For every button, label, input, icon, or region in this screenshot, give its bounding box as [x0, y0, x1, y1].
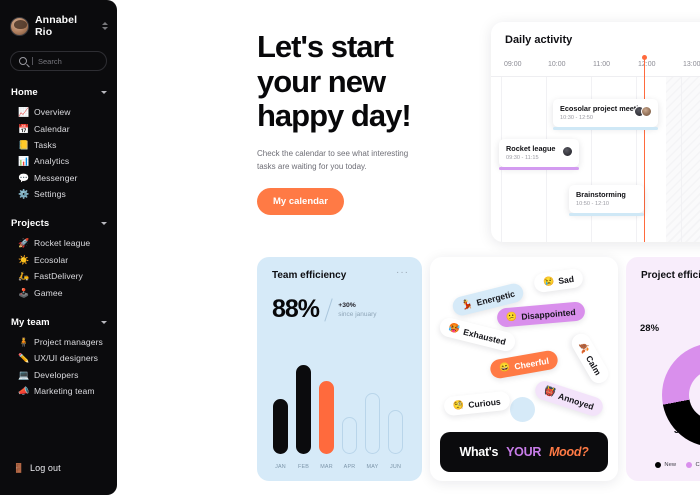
mood-label: Curious [468, 396, 501, 409]
sidebar-item-project-managers[interactable]: 🧍 Project managers [0, 334, 117, 350]
search-caret [32, 57, 33, 65]
curious-emoji-icon: 🧐 [453, 399, 465, 411]
sidebar-item-settings[interactable]: ⚙️ Settings [0, 186, 117, 202]
megaphone-icon: 📣 [18, 386, 28, 396]
cheerful-emoji-icon: 😄 [498, 361, 511, 374]
sidebar-group-projects-header[interactable]: Projects [0, 218, 117, 229]
hero-title-line-2: your new [257, 64, 385, 99]
project-efficiency-title: Project efficiency [641, 270, 700, 281]
banner-word-3: Mood? [549, 445, 588, 459]
my-calendar-button[interactable]: My calendar [257, 188, 344, 215]
bar-chart-x-labels: JAN FEB MAR APR MAY JUN [273, 464, 406, 470]
team-efficiency-value: 88% [272, 295, 319, 324]
mood-pill-disappointed[interactable]: 😕 Disappointed [496, 301, 585, 328]
sidebar-item-label: Analytics [34, 156, 69, 166]
logout-label: Log out [30, 463, 61, 473]
energetic-emoji-icon: 💃 [460, 298, 474, 311]
sidebar-item-label: Gamee [34, 288, 63, 298]
sidebar-item-label: Messenger [34, 173, 77, 183]
sidebar-item-label: Settings [34, 189, 66, 199]
team-efficiency-delta: +30% [338, 302, 376, 309]
event-accent-bar [569, 213, 644, 216]
project-efficiency-card: Project efficiency ··· 28% 42% 30% New [626, 257, 700, 481]
sidebar-item-label: Overview [34, 107, 71, 117]
page-title: Let's start your new happy day! [257, 30, 472, 134]
sidebar-item-label: Calendar [34, 124, 70, 134]
sidebar-item-label: Marketing team [34, 386, 95, 396]
sidebar-item-label: Tasks [34, 140, 56, 150]
legend-label: New [664, 462, 676, 468]
user-name: Annabel Rio [35, 14, 96, 38]
mood-pill-annoyed[interactable]: 👹 Annoyed [533, 379, 605, 419]
legend-item-new[interactable]: New [655, 462, 676, 468]
chat-icon: 💬 [18, 173, 28, 183]
sidebar-item-developers[interactable]: 💻 Developers [0, 367, 117, 383]
sidebar-item-rocket-league[interactable]: 🚀 Rocket league [0, 235, 117, 251]
laptop-icon: 💻 [18, 370, 28, 380]
legend-swatch [655, 462, 661, 468]
axis-tick: 12:00 [638, 61, 656, 68]
axis-tick: 09:00 [504, 61, 522, 68]
sidebar-group-my-team-header[interactable]: My team [0, 317, 117, 328]
bar-may [365, 393, 380, 454]
sidebar-item-label: Project managers [34, 337, 103, 347]
donut-chart [662, 343, 700, 447]
event-card-ecosolar[interactable]: Ecosolar project meeting 10:30 - 12:50 [553, 99, 658, 127]
team-efficiency-card: Team efficiency ··· 88% +30% since janua… [257, 257, 422, 481]
sidebar-group-home-header[interactable]: Home [0, 87, 117, 98]
sidebar-item-marketing-team[interactable]: 📣 Marketing team [0, 383, 117, 399]
x-label: JAN [273, 464, 288, 470]
hero-title-line-1: Let's start [257, 29, 393, 64]
mood-label: Exhausted [462, 326, 507, 346]
legend-label: Completed [696, 462, 700, 468]
divider [324, 298, 333, 321]
bar-jan [273, 399, 288, 454]
mood-pill-calm[interactable]: 🍂 Calm [568, 330, 612, 386]
event-title: Brainstorming [576, 190, 637, 199]
sidebar-item-ecosolar[interactable]: ☀️ Ecosolar [0, 252, 117, 268]
donut-ring [662, 343, 700, 447]
sidebar-group-projects-title: Projects [11, 218, 49, 229]
sidebar-item-label: Ecosolar [34, 255, 68, 265]
annoyed-emoji-icon: 👹 [543, 385, 557, 399]
person-icon: 🧍 [18, 337, 28, 347]
sidebar-item-tasks[interactable]: 📒 Tasks [0, 137, 117, 153]
sidebar-item-overview[interactable]: 📈 Overview [0, 104, 117, 120]
mood-label: Annoyed [557, 390, 595, 411]
team-efficiency-title: Team efficiency [272, 270, 346, 281]
donut-legend: New Completed In progress [626, 462, 700, 468]
sidebar: Annabel Rio Search Home 📈 Overview 📅 Ca [0, 0, 117, 495]
bar-jun [388, 410, 403, 454]
sidebar-item-messenger[interactable]: 💬 Messenger [0, 170, 117, 186]
joystick-icon: 🕹️ [18, 288, 28, 298]
sidebar-group-home-title: Home [11, 87, 38, 98]
event-card-rocket-league[interactable]: Rocket league 09:30 - 11:15 [499, 139, 579, 167]
sidebar-item-gamee[interactable]: 🕹️ Gamee [0, 284, 117, 300]
donut-label-completed: 28% [640, 323, 659, 334]
event-accent-bar [499, 167, 579, 170]
chevron-down-icon[interactable] [101, 222, 107, 225]
bar-mar [319, 381, 334, 454]
x-label: MAR [319, 464, 334, 470]
hero-title-line-3: happy day! [257, 98, 411, 133]
axis-tick: 11:00 [593, 61, 610, 68]
daily-activity-header: Daily activity Calendar view [491, 22, 700, 57]
notebook-icon: 📒 [18, 140, 28, 150]
daily-activity-card: Daily activity Calendar view 09:00 10:00… [491, 22, 700, 242]
scooter-icon: 🛵 [18, 271, 28, 281]
sidebar-item-label: Rocket league [34, 238, 90, 248]
hero-section: Let's start your new happy day! Check th… [257, 30, 472, 215]
chart-icon: 📈 [18, 107, 28, 117]
sad-emoji-icon: 😢 [542, 276, 555, 288]
timeline-axis: 09:00 10:00 11:00 12:00 13:00 14:00 15:0 [491, 57, 700, 77]
logout-icon: 🚪 [13, 463, 23, 473]
banner-word-2: YOUR [506, 445, 541, 459]
event-attendees [634, 106, 652, 117]
sidebar-group-my-team-title: My team [11, 317, 50, 328]
bar-chart-icon: 📊 [18, 156, 28, 166]
sidebar-group-projects: Projects 🚀 Rocket league ☀️ Ecosolar 🛵 F… [0, 218, 117, 301]
mood-label: Disappointed [521, 306, 576, 321]
sidebar-group-my-team: My team 🧍 Project managers ✏️ UX/UI desi… [0, 317, 117, 400]
hero-subtitle: Check the calendar to see what interesti… [257, 148, 427, 174]
card-menu-icon[interactable]: ··· [396, 270, 409, 276]
avatar [10, 17, 29, 36]
x-label: JUN [388, 464, 403, 470]
sidebar-item-label: FastDelivery [34, 271, 83, 281]
bar-apr [342, 417, 357, 454]
timeline-grid[interactable]: Ecosolar project meeting 10:30 - 12:50 R… [491, 77, 700, 242]
event-attendees [562, 146, 573, 157]
sidebar-item-label: Developers [34, 370, 78, 380]
daily-activity-title: Daily activity [505, 34, 572, 46]
legend-item-completed[interactable]: Completed [686, 462, 700, 468]
mood-label: Energetic [475, 288, 515, 307]
mood-label: Cheerful [513, 355, 549, 371]
chevron-down-icon[interactable] [101, 91, 107, 94]
calendar-icon: 📅 [18, 124, 28, 134]
user-switch-icon[interactable] [102, 22, 108, 30]
logout-button[interactable]: 🚪 Log out [0, 463, 71, 473]
axis-tick: 10:00 [548, 61, 566, 68]
x-label: MAY [365, 464, 380, 470]
event-accent-bar [553, 127, 658, 130]
team-efficiency-delta-sub: since january [338, 311, 376, 318]
event-card-brainstorming[interactable]: Brainstorming 10:50 - 12:10 [569, 185, 644, 213]
search-input[interactable]: Search [10, 51, 107, 71]
mood-card: 💃 Energetic 😢 Sad 😕 Disappointed 🥵 Exhau… [430, 257, 618, 481]
mood-label: Sad [558, 273, 575, 285]
main-content: Let's start your new happy day! Check th… [117, 0, 700, 495]
mood-label: Calm [584, 353, 603, 376]
sidebar-item-fastdelivery[interactable]: 🛵 FastDelivery [0, 268, 117, 284]
mood-pill-cheerful[interactable]: 😄 Cheerful [489, 349, 559, 380]
bar-chart [273, 349, 406, 454]
dashboard-app: Annabel Rio Search Home 📈 Overview 📅 Ca [0, 0, 700, 495]
legend-swatch [686, 462, 692, 468]
mood-pill-curious[interactable]: 🧐 Curious [443, 391, 510, 417]
sidebar-item-label: UX/UI designers [34, 353, 98, 363]
sidebar-item-calendar[interactable]: 📅 Calendar [0, 120, 117, 136]
x-label: APR [342, 464, 357, 470]
sidebar-item-analytics[interactable]: 📊 Analytics [0, 153, 117, 169]
banner-word-1: What's [459, 445, 498, 459]
bar-feb [296, 365, 311, 454]
search-icon [19, 57, 27, 65]
search-placeholder: Search [38, 57, 62, 66]
chevron-down-icon[interactable] [101, 321, 107, 324]
pencil-icon: ✏️ [18, 353, 28, 363]
sidebar-group-home: Home 📈 Overview 📅 Calendar 📒 Tasks 📊 [0, 87, 117, 202]
break-block [666, 77, 700, 242]
sidebar-item-ux-ui-designers[interactable]: ✏️ UX/UI designers [0, 350, 117, 366]
rocket-icon: 🚀 [18, 238, 28, 248]
sidebar-user[interactable]: Annabel Rio [0, 14, 117, 38]
x-label: FEB [296, 464, 311, 470]
gear-icon: ⚙️ [18, 189, 28, 199]
calm-emoji-icon: 🍂 [576, 340, 591, 355]
exhausted-emoji-icon: 🥵 [448, 322, 462, 335]
current-time-marker [644, 57, 645, 242]
mood-pill-sad[interactable]: 😢 Sad [533, 268, 584, 294]
disappointed-emoji-icon: 😕 [506, 311, 518, 323]
axis-tick: 13:00 [683, 61, 700, 68]
event-time: 10:50 - 12:10 [576, 201, 637, 207]
sun-icon: ☀️ [18, 255, 28, 265]
mood-banner[interactable]: What's YOUR Mood? [440, 432, 608, 472]
decorative-dot [510, 397, 535, 422]
